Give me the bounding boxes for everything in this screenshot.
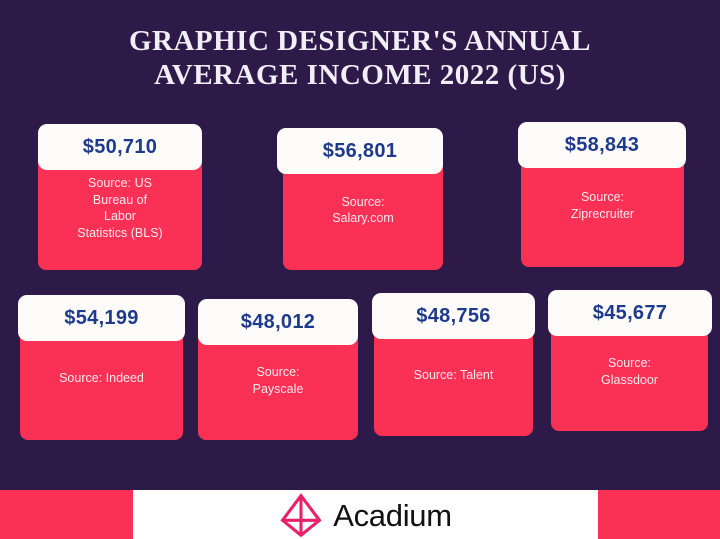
salary-card-source: Source: Salary.com [332, 194, 394, 227]
source-line: Source: [571, 189, 634, 206]
salary-card-value: $45,677 [548, 290, 712, 336]
salary-card-payscale: Source: Payscale $48,012 [198, 299, 358, 440]
source-line: Bureau of [77, 192, 162, 209]
brand-name: Acadium [333, 500, 452, 531]
salary-card-value: $48,012 [198, 299, 358, 345]
source-line: Source: Indeed [59, 370, 144, 387]
salary-card-ziprecruiter: Source: Ziprecruiter $58,843 [518, 122, 686, 267]
salary-card-indeed: Source: Indeed $54,199 [18, 295, 185, 440]
source-line: Source: [601, 355, 658, 372]
salary-card-source: Source: Indeed [59, 370, 144, 387]
page-title-line-2: AVERAGE INCOME 2022 (US) [0, 58, 720, 92]
source-line: Statistics (BLS) [77, 225, 162, 242]
salary-card-value: $48,756 [372, 293, 535, 339]
infographic-canvas: GRAPHIC DESIGNER'S ANNUAL AVERAGE INCOME… [0, 0, 720, 539]
salary-card-salarycom: Source: Salary.com $56,801 [277, 128, 443, 270]
footer-bar: Acadium [0, 490, 720, 539]
salary-card-source: Source: Payscale [253, 364, 304, 397]
salary-card-source: Source: Glassdoor [601, 355, 658, 388]
salary-card-bls: Source: US Bureau of Labor Statistics (B… [38, 124, 202, 270]
source-line: Payscale [253, 381, 304, 398]
source-line: Source: [332, 194, 394, 211]
salary-card-source: Source: US Bureau of Labor Statistics (B… [77, 175, 162, 241]
salary-card-source: Source: Talent [414, 367, 494, 384]
salary-card-value: $56,801 [277, 128, 443, 174]
acadium-diamond-logo-icon [279, 493, 323, 537]
salary-card-source: Source: Ziprecruiter [571, 189, 634, 222]
salary-card-value: $50,710 [38, 124, 202, 170]
source-line: Source: [253, 364, 304, 381]
source-line: Source: Talent [414, 367, 494, 384]
salary-card-value: $54,199 [18, 295, 185, 341]
salary-card-glassdoor: Source: Glassdoor $45,677 [548, 290, 712, 431]
salary-card-value: $58,843 [518, 122, 686, 168]
page-title-line-1: GRAPHIC DESIGNER'S ANNUAL [0, 24, 720, 58]
salary-card-talent: Source: Talent $48,756 [372, 293, 535, 436]
source-line: Source: US [77, 175, 162, 192]
source-line: Labor [77, 208, 162, 225]
source-line: Ziprecruiter [571, 206, 634, 223]
source-line: Salary.com [332, 210, 394, 227]
brand-panel: Acadium [133, 490, 598, 539]
source-line: Glassdoor [601, 372, 658, 389]
page-title: GRAPHIC DESIGNER'S ANNUAL AVERAGE INCOME… [0, 24, 720, 92]
